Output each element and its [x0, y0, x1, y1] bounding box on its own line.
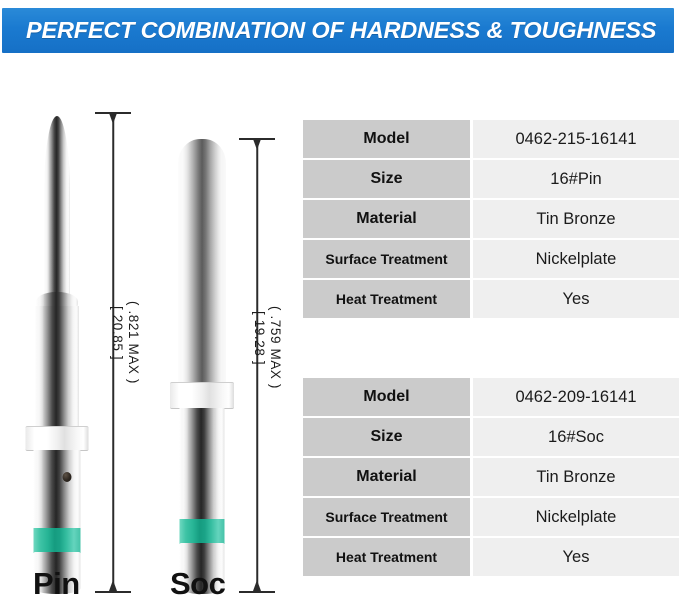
pin-spec-table: Model 0462-215-16141 Size 16#Pin Materia…: [303, 120, 679, 320]
pin-identification-band: [34, 528, 81, 553]
spec-value: Tin Bronze: [473, 200, 679, 238]
soc-barrel: [178, 139, 226, 384]
spec-label: Model: [303, 378, 470, 416]
pin-shaft: [44, 116, 70, 299]
spec-value: Yes: [473, 280, 679, 318]
spec-value: 16#Soc: [473, 418, 679, 456]
pin-dimension-bottom-arrow: [109, 580, 117, 591]
pin-caption: Pin: [33, 566, 80, 602]
soc-dimension-inches: ( .759 MAX ): [268, 306, 283, 389]
banner-title: PERFECT COMBINATION OF HARDNESS & TOUGHN…: [2, 17, 656, 44]
pin-upper-barrel: [35, 306, 79, 428]
spec-value: Yes: [473, 538, 679, 576]
spec-label: Size: [303, 160, 470, 198]
soc-dimension-bottom-cap: [239, 591, 275, 593]
soc-contact-photo: [163, 139, 241, 594]
spec-value: 16#Pin: [473, 160, 679, 198]
soc-retention-ring: [170, 382, 234, 409]
pin-dimension-inches: ( .821 MAX ): [126, 301, 141, 384]
spec-value: Tin Bronze: [473, 458, 679, 496]
table-row: Size 16#Soc: [303, 418, 679, 456]
pin-dimension-bottom-cap: [95, 591, 131, 593]
pin-contact-photo: [18, 116, 96, 594]
table-row: Surface Treatment Nickelplate: [303, 498, 679, 536]
table-row: Model 0462-209-16141: [303, 378, 679, 416]
pin-upper-barrel-gloss: [35, 306, 79, 428]
soc-spec-table: Model 0462-209-16141 Size 16#Soc Materia…: [303, 378, 679, 578]
pin-retention-ring: [26, 426, 89, 451]
soc-dimension-bottom-arrow: [253, 580, 261, 591]
spec-label: Material: [303, 458, 470, 496]
table-row: Heat Treatment Yes: [303, 538, 679, 576]
table-row: Material Tin Bronze: [303, 200, 679, 238]
pin-shaft-gloss: [44, 116, 70, 299]
spec-label: Surface Treatment: [303, 498, 470, 536]
spec-value: Nickelplate: [473, 240, 679, 278]
soc-caption: Soc: [170, 566, 225, 602]
spec-label: Heat Treatment: [303, 538, 470, 576]
soc-lower-barrel-gloss: [180, 408, 225, 524]
spec-label: Surface Treatment: [303, 240, 470, 278]
spec-value: 0462-215-16141: [473, 120, 679, 158]
soc-dimension-millimeters: [ 19.28 ]: [252, 311, 267, 365]
spec-label: Material: [303, 200, 470, 238]
soc-barrel-gloss: [178, 139, 226, 384]
table-row: Material Tin Bronze: [303, 458, 679, 496]
product-photo-panel: ( .821 MAX ) [ 20.85 ] Pin ( .759 MAX ) …: [0, 56, 300, 616]
spec-label: Model: [303, 120, 470, 158]
table-row: Surface Treatment Nickelplate: [303, 240, 679, 278]
inspection-hole: [63, 472, 72, 482]
spec-value: 0462-209-16141: [473, 378, 679, 416]
soc-identification-band: [180, 519, 225, 544]
header-banner: PERFECT COMBINATION OF HARDNESS & TOUGHN…: [2, 8, 674, 53]
soc-lower-barrel: [180, 408, 225, 524]
pin-dimension-millimeters: [ 20.85 ]: [110, 306, 125, 360]
spec-value: Nickelplate: [473, 498, 679, 536]
soc-dimension-line: [256, 141, 258, 591]
spec-label: Size: [303, 418, 470, 456]
table-row: Model 0462-215-16141: [303, 120, 679, 158]
table-row: Size 16#Pin: [303, 160, 679, 198]
spec-label: Heat Treatment: [303, 280, 470, 318]
table-row: Heat Treatment Yes: [303, 280, 679, 318]
